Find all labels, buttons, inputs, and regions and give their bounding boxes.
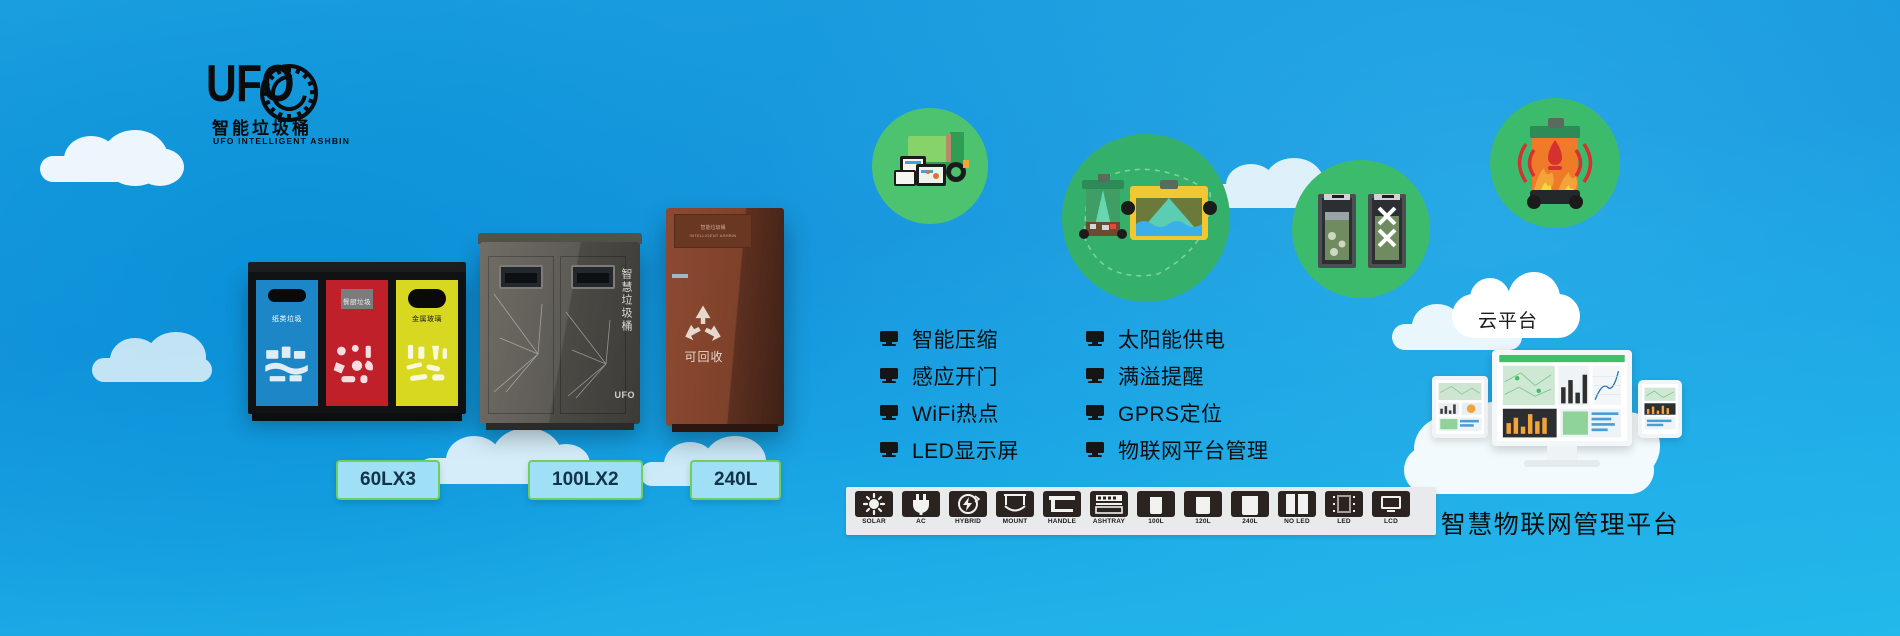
bin-card-reader (672, 274, 688, 278)
monitor-icon (880, 368, 898, 383)
product-tag-60lx3: 60LX3 (336, 460, 440, 500)
spec-icon-caption: LED (1337, 518, 1351, 525)
monitor-icon (1086, 405, 1104, 420)
panel-en-text: INTELLIGENT ASHBIN (675, 233, 751, 238)
feature-label: 满溢提醒 (1118, 361, 1204, 391)
bin-compartment-kitchen: 餐厨垃圾 (326, 280, 388, 406)
spec-icon-ashtray[interactable]: ASHTRAY (1087, 491, 1131, 531)
feature-item: 智能压缩 (880, 320, 1019, 357)
bin-compartment-metal-glass: 金属玻璃 (396, 280, 458, 406)
bin-240l-icon (1231, 491, 1269, 517)
cloud-bubble-label: 云平台 (1478, 306, 1538, 333)
lcd-icon (1372, 491, 1410, 517)
feature-circle-fleet-management (872, 108, 988, 224)
feature-circle-fill-level-sensor (1062, 134, 1230, 302)
recycle-symbol-icon (680, 304, 726, 344)
tablet-right (1638, 380, 1682, 438)
bin-compartment-paper: 纸类垃圾 (256, 280, 318, 406)
feature-column-left: 智能压缩 感应开门 WiFi热点 LED显示屏 (880, 320, 1019, 468)
panel-cn-text: 智能垃圾桶 (675, 224, 751, 231)
handle-icon (1043, 491, 1081, 517)
ashtray-icon (1090, 491, 1128, 517)
product-tag-240l: 240L (690, 460, 781, 500)
feature-item: 感应开门 (880, 357, 1019, 394)
spec-icon-no-led[interactable]: NO LED (1275, 491, 1319, 531)
product-bin-240l: 智能垃圾桶 INTELLIGENT ASHBIN 可回收 (666, 208, 784, 426)
desktop-monitor (1492, 350, 1632, 446)
bin-side-text: 智慧垃圾桶 (618, 268, 634, 333)
feature-item: WiFi热点 (880, 394, 1019, 431)
tablet-left (1432, 376, 1488, 438)
spec-icon-strip: SOLAR AC HYBRID (846, 487, 1436, 535)
promo-banner: UFO 智能垃圾桶 UFO INTELLIGENT ASHBIN 纸类垃圾 (0, 0, 1900, 636)
monitor-base (1524, 460, 1600, 467)
spec-icon-solar[interactable]: SOLAR (852, 491, 896, 531)
hybrid-power-icon (949, 491, 987, 517)
spec-icon-240l[interactable]: 240L (1228, 491, 1272, 531)
brand-logo: UFO 智能垃圾桶 UFO INTELLIGENT ASHBIN (206, 58, 318, 150)
product-bin-60lx3: 纸类垃圾 餐厨垃圾 (248, 272, 466, 414)
bin-slot (268, 289, 306, 302)
led-icon (1325, 491, 1363, 517)
compartment-label: 纸类垃圾 (256, 314, 318, 324)
bin-door-left (488, 256, 554, 414)
spec-icon-100l[interactable]: 100L (1134, 491, 1178, 531)
monitor-icon (880, 331, 898, 346)
spec-icon-caption: 100L (1148, 518, 1164, 525)
compartment-pictogram (261, 326, 313, 402)
bin-slot (408, 289, 446, 308)
bin-base (672, 424, 778, 432)
bin-opening (499, 265, 543, 289)
feature-label: 太阳能供电 (1118, 324, 1226, 354)
no-led-icon (1278, 491, 1316, 517)
feature-label: WiFi热点 (912, 398, 999, 428)
feature-column-right: 太阳能供电 满溢提醒 GPRS定位 物联网平台管理 (1086, 320, 1269, 468)
spec-icon-caption: 120L (1195, 518, 1211, 525)
spec-icon-caption: HANDLE (1048, 518, 1076, 525)
spec-icon-hybrid[interactable]: HYBRID (946, 491, 990, 531)
bin-brand-badge: UFO (615, 390, 636, 400)
recycle-label: 可回收 (676, 348, 732, 365)
compartment-label: 餐厨垃圾 (326, 296, 388, 306)
dashboard-device-group (1432, 350, 1684, 482)
feature-item: 物联网平台管理 (1086, 431, 1269, 468)
solar-panel-icon (855, 491, 893, 517)
compartment-pictogram (401, 326, 453, 402)
cloud-decoration (92, 330, 242, 388)
spec-icon-caption: 240L (1242, 518, 1258, 525)
spec-icon-caption: ASHTRAY (1093, 518, 1125, 525)
feature-circle-fire-alarm (1490, 98, 1620, 228)
wall-mount-icon (996, 491, 1034, 517)
bin-100l-icon (1137, 491, 1175, 517)
compartment-pictogram (331, 326, 383, 402)
spec-icon-caption: AC (916, 518, 926, 525)
bin-opening (571, 265, 615, 289)
spec-icon-caption: NO LED (1284, 518, 1310, 525)
monitor-icon (1086, 368, 1104, 383)
dashboard-screen (1497, 355, 1627, 441)
feature-label: 感应开门 (912, 361, 998, 391)
spec-icon-caption: SOLAR (862, 518, 886, 525)
cloud-decoration (40, 130, 210, 190)
spec-icon-lcd[interactable]: LCD (1369, 491, 1413, 531)
logo-en-text: UFO INTELLIGENT ASHBIN (213, 136, 350, 146)
spec-icon-handle[interactable]: HANDLE (1040, 491, 1084, 531)
feature-item: 太阳能供电 (1086, 320, 1269, 357)
spec-icon-120l[interactable]: 120L (1181, 491, 1225, 531)
product-bin-100lx2: 智慧垃圾桶 UFO (480, 242, 640, 424)
feature-label: 物联网平台管理 (1118, 435, 1269, 465)
feature-label: 智能压缩 (912, 324, 998, 354)
platform-title: 智慧物联网管理平台 (1434, 505, 1686, 541)
feature-circle-compaction (1292, 160, 1430, 298)
feature-label: GPRS定位 (1118, 398, 1223, 428)
spec-icon-led[interactable]: LED (1322, 491, 1366, 531)
bin-120l-icon (1184, 491, 1222, 517)
ac-plug-icon (902, 491, 940, 517)
cloud-platform-bubble: 云平台 (1452, 286, 1592, 344)
bin-top-panel: 智能垃圾桶 INTELLIGENT ASHBIN (674, 214, 752, 248)
monitor-icon (1086, 331, 1104, 346)
monitor-icon (880, 405, 898, 420)
monitor-icon (1086, 442, 1104, 457)
product-tag-100lx2: 100LX2 (528, 460, 643, 500)
spec-icon-ac[interactable]: AC (899, 491, 943, 531)
spec-icon-caption: LCD (1384, 518, 1398, 525)
spec-icon-mount[interactable]: MOUNT (993, 491, 1037, 531)
bin-base (252, 413, 462, 421)
spec-icon-caption: MOUNT (1003, 518, 1028, 525)
compartment-label: 金属玻璃 (396, 314, 458, 324)
bin-base (486, 423, 634, 430)
feature-item: GPRS定位 (1086, 394, 1269, 431)
monitor-icon (880, 442, 898, 457)
feature-item: 满溢提醒 (1086, 357, 1269, 394)
spec-icon-caption: HYBRID (955, 518, 981, 525)
feature-label: LED显示屏 (912, 435, 1019, 465)
feature-item: LED显示屏 (880, 431, 1019, 468)
